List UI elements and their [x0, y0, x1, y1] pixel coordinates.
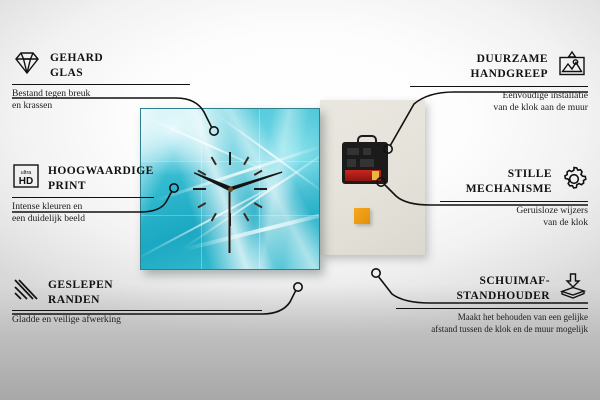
hands-pin	[228, 187, 233, 192]
divider	[12, 197, 154, 198]
feature-desc-line1: Intense kleuren en	[12, 201, 82, 212]
feature-schuimaf-standhouder[interactable]: SCHUIMAF-STANDHOUDER Maakt het behouden …	[396, 272, 588, 335]
feature-title-line2: MECHANISME	[466, 183, 552, 195]
feature-title-line1: SCHUIMAF-	[480, 275, 551, 287]
divider	[12, 310, 262, 311]
picture-hanger-icon	[556, 50, 588, 83]
feature-desc-line2: een duidelijk beeld	[12, 213, 85, 224]
feature-desc-line1: Eenvoudige installatie	[502, 90, 588, 101]
infographic-canvas: GEHARDGLAS Bestand tegen breuken krassen…	[0, 0, 600, 400]
feature-desc-line2: en krassen	[12, 100, 52, 111]
foam-spacer-icon	[558, 272, 588, 305]
mechanism-detail	[363, 148, 371, 155]
ultra-hd-icon: ultra HD	[12, 163, 40, 194]
feature-stille-mechanisme[interactable]: STILLEMECHANISME Geruisloze wijzersvan d…	[440, 165, 588, 230]
feature-title-line1: HOOGWAARDIGE	[48, 165, 154, 177]
divider	[440, 201, 588, 202]
feature-title-line1: STILLE	[508, 168, 552, 180]
feature-duurzame-handgreep[interactable]: DUURZAMEHANDGREEP Eenvoudige installatie…	[410, 50, 588, 115]
mechanism-detail	[360, 159, 374, 167]
feature-desc-line1: Maakt het behouden van een gelijke	[458, 312, 588, 322]
diamond-icon	[12, 50, 42, 81]
feature-title-line2: GLAS	[50, 67, 83, 79]
divider	[396, 308, 588, 309]
mechanism-detail	[347, 159, 356, 167]
feature-desc-line2: van de klok	[543, 217, 588, 228]
divider	[410, 86, 588, 87]
bevelled-edges-icon	[12, 278, 40, 307]
feature-title-line2: HANDGREEP	[470, 68, 548, 80]
foam-spacer-pad	[354, 208, 370, 224]
feature-desc-line1: Gladde en veilige afwerking	[12, 314, 121, 325]
feature-title-line1: DUURZAME	[477, 53, 548, 65]
feature-title-line2: STANDHOUDER	[456, 290, 550, 302]
feature-hoogwaardige-print[interactable]: ultra HD HOOGWAARDIGEPRINT Intense kleur…	[12, 163, 154, 226]
feature-title-line1: GEHARD	[50, 52, 103, 64]
clock-face	[140, 108, 320, 270]
gear-icon	[560, 165, 588, 198]
feature-desc-line2: afstand tussen de klok en de muur mogeli…	[431, 324, 588, 334]
feature-title-line2: PRINT	[48, 180, 86, 192]
mechanism-detail	[347, 148, 359, 155]
feature-desc-line2: van de klok aan de muur	[493, 102, 588, 113]
svg-text:HD: HD	[19, 176, 33, 187]
feature-geslepen-randen[interactable]: GESLEPENRANDEN Gladde en veilige afwerki…	[12, 278, 262, 326]
feature-title-line1: GESLEPEN	[48, 279, 113, 291]
divider	[12, 84, 190, 85]
battery	[345, 170, 381, 181]
feature-gehard-glas[interactable]: GEHARDGLAS Bestand tegen breuken krassen	[12, 50, 190, 113]
product-image	[140, 100, 330, 275]
clock-mechanism	[342, 142, 388, 184]
feature-desc-line1: Geruisloze wijzers	[516, 205, 588, 216]
clock-back-plate	[320, 100, 425, 255]
feature-desc-line1: Bestand tegen breuk	[12, 88, 90, 99]
feature-title-line2: RANDEN	[48, 294, 100, 306]
